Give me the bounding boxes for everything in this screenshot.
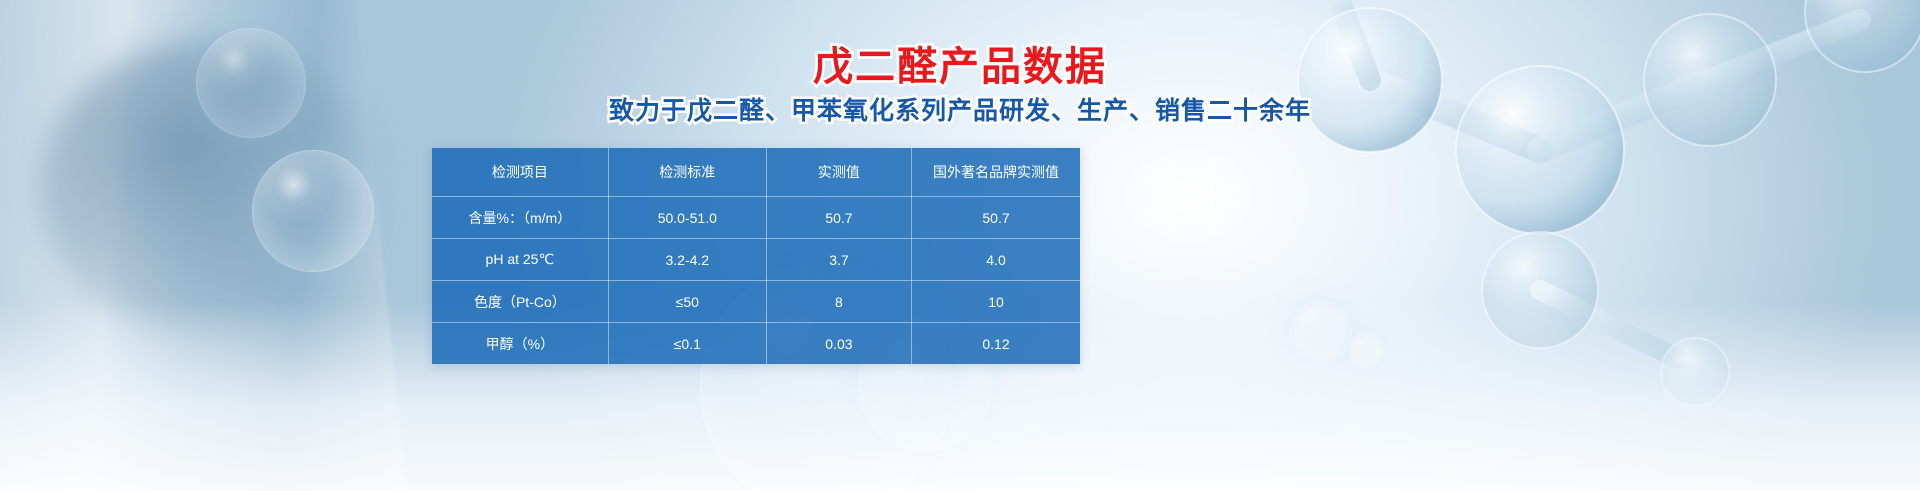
column-header-item: 检测项目 [432,148,608,197]
cell-foreign-brand: 0.12 [912,323,1081,365]
cell-measured: 8 [766,281,911,323]
cell-standard: ≤50 [608,281,766,323]
product-data-banner: 戊二醛产品数据 致力于戊二醛、甲苯氧化系列产品研发、生产、销售二十余年 检测项目… [0,0,1920,491]
banner-title: 戊二醛产品数据 [0,46,1920,88]
cell-standard: ≤0.1 [608,323,766,365]
cell-measured: 3.7 [766,239,911,281]
product-spec-table: 检测项目 检测标准 实测值 国外著名品牌实测值 含量%：（m/m） 50.0-5… [432,148,1080,364]
column-header-foreign-brand: 国外著名品牌实测值 [912,148,1081,197]
cell-foreign-brand: 50.7 [912,197,1081,239]
table-row: 甲醇（%） ≤0.1 0.03 0.12 [432,323,1080,365]
table-header: 检测项目 检测标准 实测值 国外著名品牌实测值 [432,148,1080,197]
bubble-decoration [252,150,374,272]
cell-measured: 0.03 [766,323,911,365]
cell-item: pH at 25℃ [432,239,608,281]
table-header-row: 检测项目 检测标准 实测值 国外著名品牌实测值 [432,148,1080,197]
cell-measured: 50.7 [766,197,911,239]
cell-foreign-brand: 4.0 [912,239,1081,281]
product-spec-table-wrapper: 检测项目 检测标准 实测值 国外著名品牌实测值 含量%：（m/m） 50.0-5… [432,148,1080,364]
cell-standard: 3.2-4.2 [608,239,766,281]
table-row: pH at 25℃ 3.2-4.2 3.7 4.0 [432,239,1080,281]
cell-item: 色度（Pt-Co） [432,281,608,323]
cell-standard: 50.0-51.0 [608,197,766,239]
table-row: 色度（Pt-Co） ≤50 8 10 [432,281,1080,323]
table-body: 含量%：（m/m） 50.0-51.0 50.7 50.7 pH at 25℃ … [432,197,1080,365]
column-header-measured: 实测值 [766,148,911,197]
table-row: 含量%：（m/m） 50.0-51.0 50.7 50.7 [432,197,1080,239]
cell-item: 甲醇（%） [432,323,608,365]
banner-subtitle: 致力于戊二醛、甲苯氧化系列产品研发、生产、销售二十余年 [0,98,1920,126]
cell-foreign-brand: 10 [912,281,1081,323]
banner-headings: 戊二醛产品数据 致力于戊二醛、甲苯氧化系列产品研发、生产、销售二十余年 [0,46,1920,126]
cell-item: 含量%：（m/m） [432,197,608,239]
column-header-standard: 检测标准 [608,148,766,197]
